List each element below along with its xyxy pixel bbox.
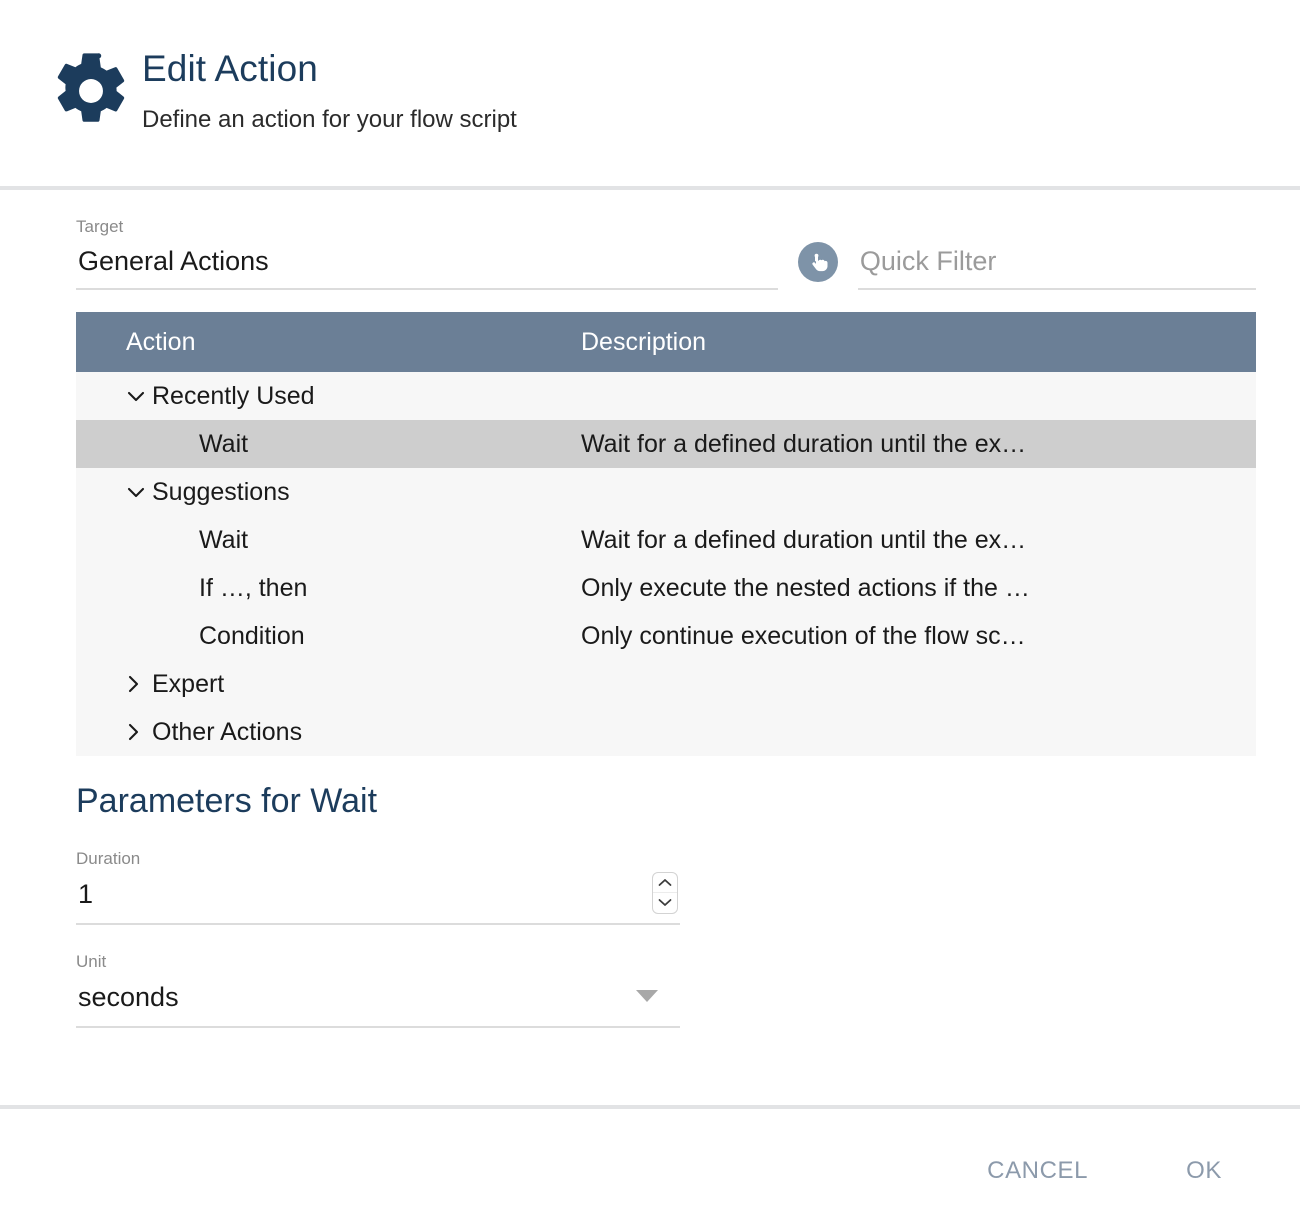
table-header-row: Action Description <box>76 312 1256 372</box>
gear-icon <box>50 44 142 132</box>
page-subtitle: Define an action for your flow script <box>142 104 517 136</box>
target-underline <box>76 288 778 290</box>
chevron-right-icon[interactable] <box>126 674 152 694</box>
target-field[interactable]: Target <box>76 216 778 290</box>
stepper-up-icon[interactable] <box>653 873 677 893</box>
cancel-button[interactable]: CANCEL <box>969 1147 1106 1195</box>
row-action-label: If …, then <box>199 574 307 603</box>
row-action-label: Recently Used <box>152 382 315 411</box>
tree-item-row[interactable]: If …, thenOnly execute the nested action… <box>76 564 1256 612</box>
row-action-label: Wait <box>199 526 248 555</box>
row-description: Only execute the nested actions if the … <box>581 574 1256 603</box>
tree-item-row[interactable]: WaitWait for a defined duration until th… <box>76 420 1256 468</box>
tree-group-row[interactable]: Other Actions <box>76 708 1256 756</box>
duration-underline <box>76 923 680 925</box>
tree-group-row[interactable]: Suggestions <box>76 468 1256 516</box>
row-action-label: Expert <box>152 670 224 699</box>
duration-field[interactable]: Duration <box>76 848 680 925</box>
unit-field[interactable]: Unit <box>76 951 680 1028</box>
chevron-down-icon[interactable] <box>636 990 658 1002</box>
duration-input[interactable] <box>76 870 652 915</box>
chevron-down-icon[interactable] <box>126 389 152 403</box>
unit-label: Unit <box>76 951 680 973</box>
row-action-label: Wait <box>199 430 248 459</box>
target-filter-row: Target <box>0 190 1300 290</box>
duration-stepper[interactable] <box>652 872 678 914</box>
target-input[interactable] <box>76 238 778 281</box>
page-title: Edit Action <box>142 46 517 92</box>
row-description: Wait for a defined duration until the ex… <box>581 430 1256 459</box>
table-body: Recently UsedWaitWait for a defined dura… <box>76 372 1256 756</box>
chevron-right-icon[interactable] <box>126 722 152 742</box>
dialog-body: Target Action Description Recently UsedW… <box>0 190 1300 1105</box>
target-label: Target <box>76 216 778 238</box>
duration-label: Duration <box>76 848 680 870</box>
tree-item-row[interactable]: WaitWait for a defined duration until th… <box>76 516 1256 564</box>
action-table: Action Description Recently UsedWaitWait… <box>76 312 1256 756</box>
unit-underline <box>76 1026 680 1028</box>
row-description: Only continue execution of the flow sc… <box>581 622 1256 651</box>
column-header-action[interactable]: Action <box>76 328 581 357</box>
row-action-label: Condition <box>199 622 305 651</box>
chevron-down-icon[interactable] <box>126 485 152 499</box>
touch-pointer-icon[interactable] <box>798 242 838 282</box>
touch-badge-cell <box>778 242 857 290</box>
row-description: Wait for a defined duration until the ex… <box>581 526 1256 555</box>
row-action-label: Suggestions <box>152 478 290 507</box>
tree-group-row[interactable]: Recently Used <box>76 372 1256 420</box>
quick-filter-underline <box>858 288 1256 290</box>
dialog-header: Edit Action Define an action for your fl… <box>0 0 1300 190</box>
tree-item-row[interactable]: ConditionOnly continue execution of the … <box>76 612 1256 660</box>
stepper-down-icon[interactable] <box>653 892 677 913</box>
column-header-description[interactable]: Description <box>581 328 1256 357</box>
unit-select[interactable] <box>76 973 636 1018</box>
quick-filter-input[interactable] <box>858 238 1256 281</box>
tree-group-row[interactable]: Expert <box>76 660 1256 708</box>
parameters-title: Parameters for Wait <box>76 780 1300 822</box>
dialog-footer: CANCEL OK <box>0 1109 1300 1232</box>
ok-button[interactable]: OK <box>1168 1147 1240 1195</box>
row-action-label: Other Actions <box>152 718 302 747</box>
quick-filter-field[interactable] <box>858 238 1256 290</box>
